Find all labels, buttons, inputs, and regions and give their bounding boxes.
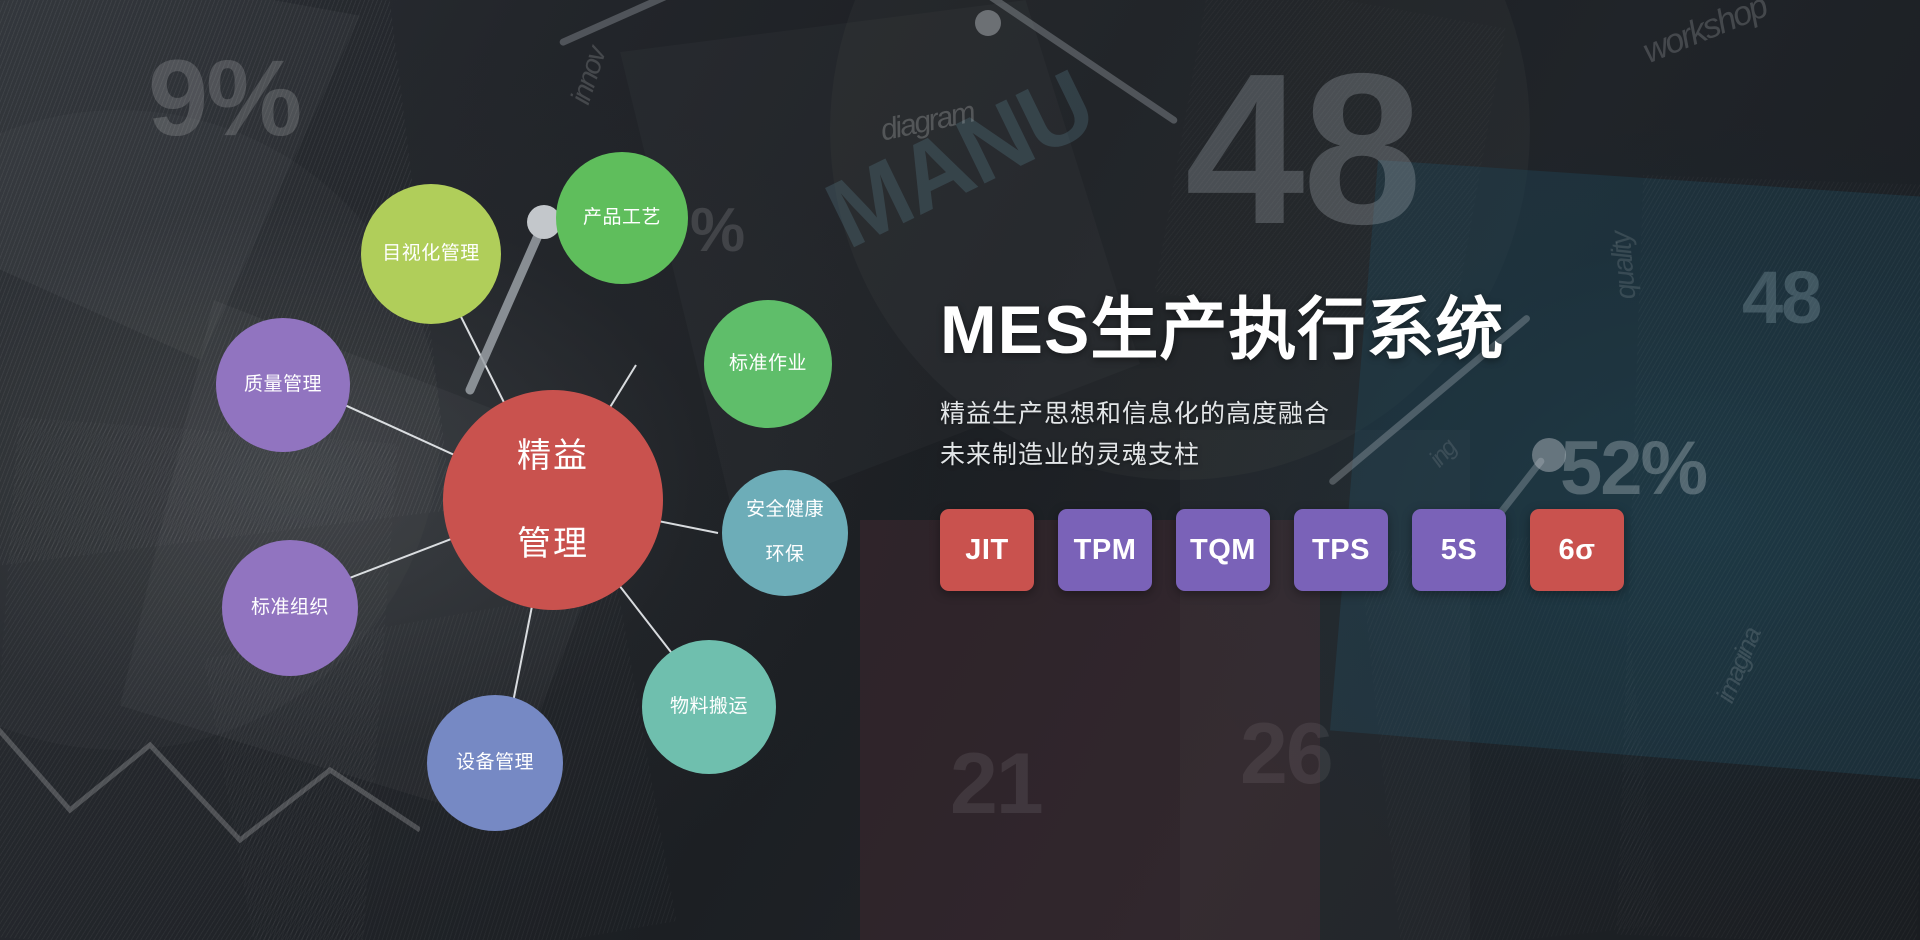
watermark-26: 26 <box>1240 705 1332 804</box>
badge-6sigma[interactable]: 6σ <box>1530 509 1624 591</box>
node-standard-operation[interactable]: 标准作业 <box>704 300 832 428</box>
badge-5s-label: 5S <box>1441 534 1477 567</box>
badge-tps[interactable]: TPS <box>1294 509 1388 591</box>
node-material-handling-label: 物料搬运 <box>662 696 756 718</box>
banner-content: MES生产执行系统 精益生产思想和信息化的高度融合 未来制造业的灵魂支柱 JIT… <box>940 295 1900 591</box>
node-standard-organization[interactable]: 标准组织 <box>222 540 358 676</box>
node-standard-organization-label: 标准组织 <box>243 597 337 619</box>
badge-jit-label: JIT <box>965 534 1008 567</box>
subtitle-block: 精益生产思想和信息化的高度融合 未来制造业的灵魂支柱 <box>940 394 1900 475</box>
watermark-workshop: workshop <box>1637 0 1772 72</box>
lean-management-network-diagram: 精益管理 目视化管理 产品工艺 标准作业 安全健康环保 物料搬运 设备管理 标准… <box>0 0 920 940</box>
methodology-badge-row: JIT TPM TQM TPS 5S 6σ <box>940 509 1900 591</box>
bg-decor-line-2 <box>984 0 1179 125</box>
bg-decor-dot-2 <box>975 10 1001 36</box>
node-she-line1: 安全健康 <box>738 499 832 521</box>
node-safety-health-environment[interactable]: 安全健康环保 <box>722 470 848 596</box>
subtitle-line-1: 精益生产思想和信息化的高度融合 <box>940 394 1900 435</box>
badge-tpm[interactable]: TPM <box>1058 509 1152 591</box>
node-material-handling[interactable]: 物料搬运 <box>642 640 776 774</box>
badge-tqm-label: TQM <box>1190 534 1256 567</box>
watermark-quality: quality <box>1605 231 1643 300</box>
node-she-line2: 环保 <box>738 544 832 566</box>
node-safety-health-environment-label: 安全健康环保 <box>730 499 840 566</box>
watermark-imagination: imagina <box>1710 624 1768 707</box>
badge-tps-label: TPS <box>1312 534 1370 567</box>
node-standard-operation-label: 标准作业 <box>721 353 815 375</box>
node-visual-management[interactable]: 目视化管理 <box>361 184 501 324</box>
node-hub-line2: 管理 <box>509 522 597 566</box>
node-hub-lean-management[interactable]: 精益管理 <box>443 390 663 610</box>
node-visual-management-label: 目视化管理 <box>374 243 488 265</box>
watermark-48: 48 <box>1185 25 1420 273</box>
node-quality-management[interactable]: 质量管理 <box>216 318 350 452</box>
banner-stage: 9% % 48 48 52% 21 26 MANU workshop diagr… <box>0 0 1920 940</box>
badge-jit[interactable]: JIT <box>940 509 1034 591</box>
node-hub-label: 精益管理 <box>501 434 605 567</box>
badge-tqm[interactable]: TQM <box>1176 509 1270 591</box>
subtitle-line-2: 未来制造业的灵魂支柱 <box>940 435 1900 476</box>
page-title: MES生产执行系统 <box>940 295 1900 366</box>
badge-5s[interactable]: 5S <box>1412 509 1506 591</box>
badge-6sigma-label: 6σ <box>1559 534 1596 567</box>
node-product-process[interactable]: 产品工艺 <box>556 152 688 284</box>
node-hub-line1: 精益 <box>509 434 597 478</box>
badge-tpm-label: TPM <box>1074 534 1137 567</box>
watermark-21: 21 <box>950 735 1042 834</box>
node-equipment-management[interactable]: 设备管理 <box>427 695 563 831</box>
node-quality-management-label: 质量管理 <box>236 374 330 396</box>
node-product-process-label: 产品工艺 <box>575 207 669 229</box>
node-equipment-management-label: 设备管理 <box>448 752 542 774</box>
